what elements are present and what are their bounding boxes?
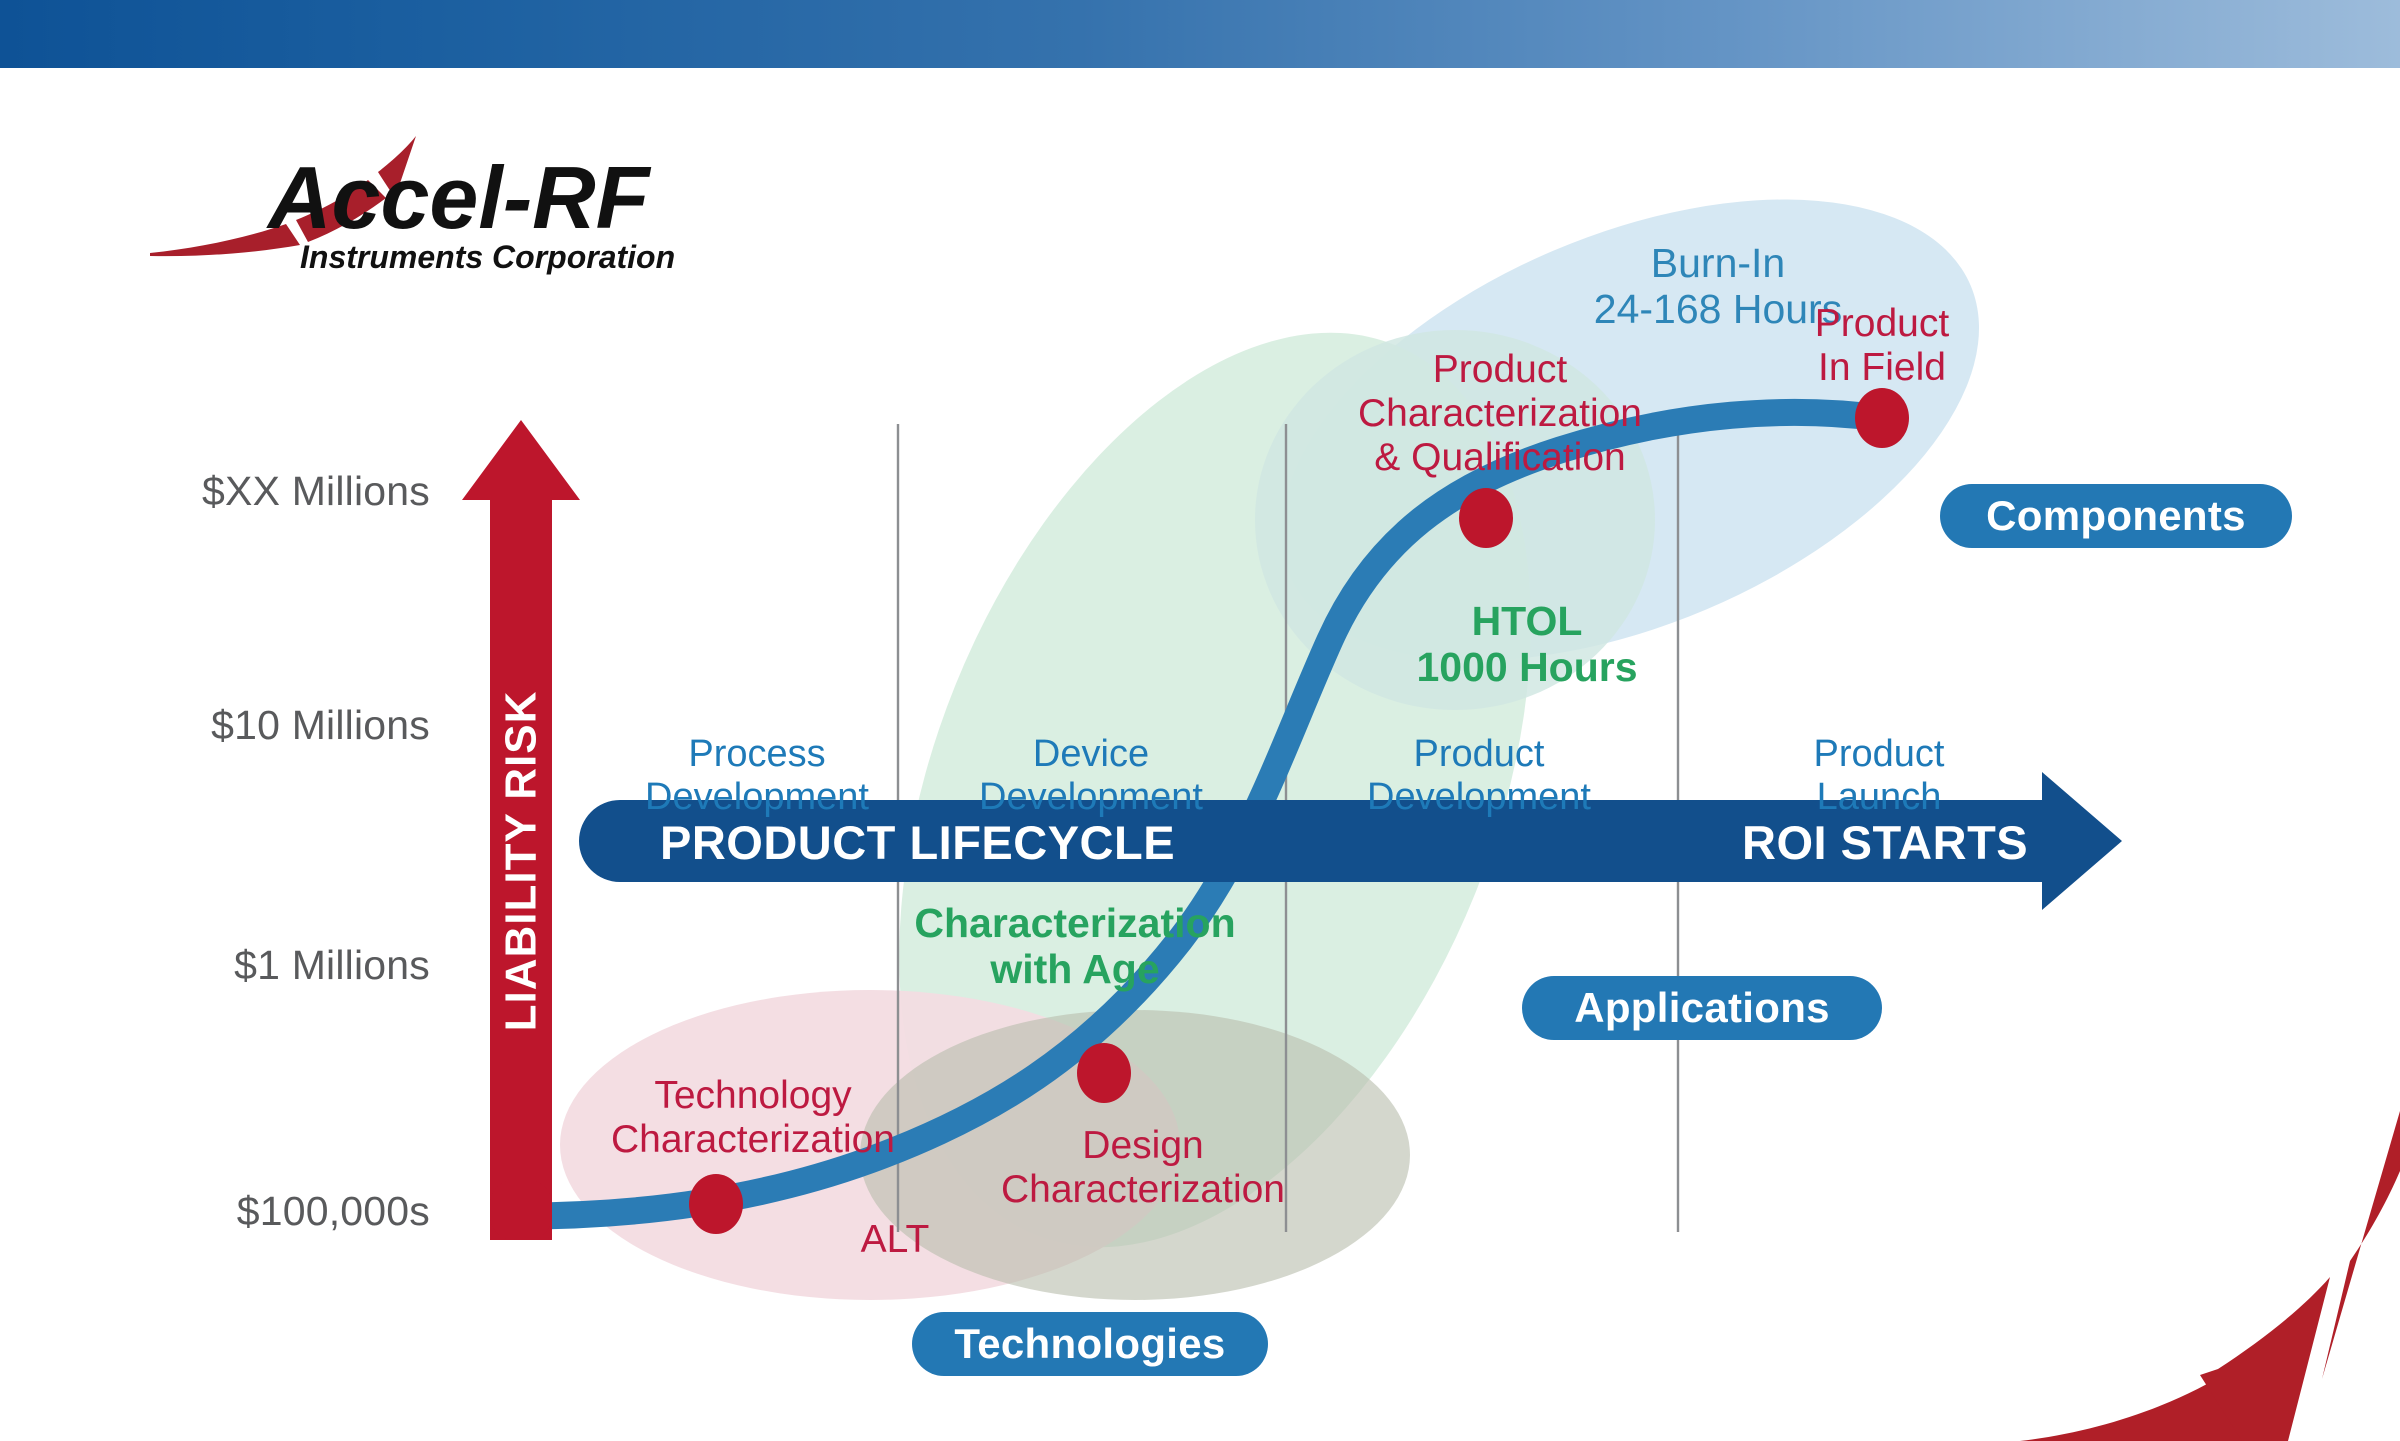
stage-label-line1: Product [1740, 733, 2018, 776]
annotation-htol-line2: 1000 Hours [1392, 644, 1662, 690]
ytick-label-0: $XX Millions [110, 468, 430, 515]
annotation-cwa-line2: with Age [890, 946, 1260, 992]
annotation-product-in-field: Product In Field [1762, 302, 2002, 390]
stage-label-line2: Development [1340, 776, 1618, 819]
annotation-technology-characterization: Technology Characterization [568, 1074, 938, 1162]
annotation-pcq-line2: Characterization [1300, 392, 1700, 436]
annotation-dc-line1: Design [958, 1124, 1328, 1168]
annotation-in-field-line1: Product [1762, 302, 2002, 346]
marker-design-characterization [1077, 1043, 1131, 1103]
annotation-htol-line1: HTOL [1392, 598, 1662, 644]
annotation-pcq-line1: Product [1300, 348, 1700, 392]
annotation-alt: ALT [800, 1218, 990, 1262]
stage-label-device-development: Device Development [952, 733, 1230, 818]
roi-starts-label: ROI STARTS [1742, 815, 2028, 870]
pill-applications[interactable]: Applications [1522, 976, 1882, 1040]
annotation-tc-line2: Characterization [568, 1118, 938, 1162]
marker-technology-characterization [689, 1174, 743, 1234]
infographic-canvas: Accel-RF Instruments Corporation [0, 0, 2400, 1441]
stage-label-line2: Development [618, 776, 896, 819]
product-lifecycle-label: PRODUCT LIFECYCLE [660, 815, 1175, 870]
pill-components[interactable]: Components [1940, 484, 2292, 548]
stage-label-product-launch: Product Launch [1740, 733, 2018, 818]
annotation-cwa-line1: Characterization [890, 900, 1260, 946]
stage-label-line2: Launch [1740, 776, 2018, 819]
liability-risk-arrow [462, 420, 580, 1240]
stage-label-line1: Product [1340, 733, 1618, 776]
annotation-characterization-with-age: Characterization with Age [890, 900, 1260, 993]
ytick-label-1: $10 Millions [110, 702, 430, 749]
annotation-burn-in-line1: Burn-In [1548, 240, 1888, 286]
marker-product-in-field [1855, 388, 1909, 448]
stage-label-product-development: Product Development [1340, 733, 1618, 818]
annotation-pcq-line3: & Qualification [1300, 436, 1700, 480]
corner-brand-swoosh-icon [2020, 1111, 2400, 1441]
ytick-label-3: $100,000s [110, 1188, 430, 1235]
marker-product-characterization [1459, 488, 1513, 548]
annotation-in-field-line2: In Field [1762, 346, 2002, 390]
annotation-design-characterization: Design Characterization [958, 1124, 1328, 1212]
pill-technologies[interactable]: Technologies [912, 1312, 1268, 1376]
stage-label-line1: Device [952, 733, 1230, 776]
ytick-label-2: $1 Millions [110, 942, 430, 989]
stage-label-process-development: Process Development [618, 733, 896, 818]
annotation-htol: HTOL 1000 Hours [1392, 598, 1662, 691]
annotation-product-characterization-qualification: Product Characterization & Qualification [1300, 348, 1700, 480]
annotation-dc-line2: Characterization [958, 1168, 1328, 1212]
stage-label-line2: Development [952, 776, 1230, 819]
stage-label-line1: Process [618, 733, 896, 776]
annotation-tc-line1: Technology [568, 1074, 938, 1118]
